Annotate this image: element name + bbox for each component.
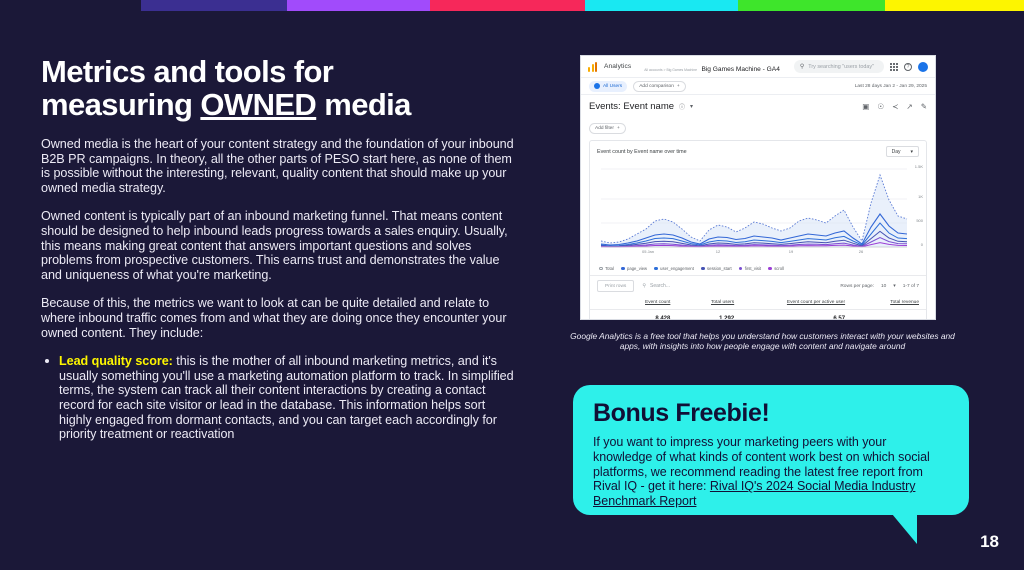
color-segment-indigo [141,0,287,11]
search-icon: ⚲ [800,63,804,70]
legend-label: page_view [627,266,647,271]
legend-item-total[interactable]: Total [599,266,614,271]
rows-per-page-control: Rows per page: 10 ▾ 1-7 of 7 [840,284,919,289]
ga-search-placeholder: Try searching "users today" [808,64,874,70]
body-paragraph-3: Because of this, the metrics we want to … [41,296,521,340]
chart-plot-area: 1.5K 1K 500 0 05 Jan 12 19 26 [597,159,922,264]
plus-icon: + [617,126,620,131]
legend-label: user_engagement [660,266,694,271]
bullet-lead-label: Lead quality score: [59,354,173,368]
analytics-logo-icon [588,62,598,72]
google-analytics-screenshot: Analytics All accounts > Big Games Machi… [580,55,936,320]
x-tick-19: 19 [780,249,802,254]
ga-account-breadcrumb: All accounts > Big Games Machine [644,68,697,72]
granularity-value: Day [892,149,901,155]
page-title: Metrics and tools for measuring OWNED me… [41,55,521,121]
ga-search-input[interactable]: ⚲ Try searching "users today" [794,60,884,73]
date-range-selector[interactable]: Last 28 days Jan 2 - Jan 29, 2025 [855,84,927,89]
help-icon[interactable]: ? [904,63,912,71]
legend-item-session-start[interactable]: session_start [701,266,732,271]
cell-total-revenue: £0.00 [852,310,926,321]
column-header-total-users[interactable]: Total users [677,296,741,310]
bonus-heading: Bonus Freebie! [573,385,969,428]
slide-left-column: Metrics and tools for measuring OWNED me… [41,55,521,442]
chart-legend: Total page_view user_engagement session_… [590,264,926,275]
edit-icon[interactable]: ✎ [921,102,927,111]
cell-event-count: 8,428 100% of total [590,310,677,321]
legend-label: scroll [774,266,784,271]
list-item: Lead quality score: this is the mother o… [41,354,521,442]
chart-title: Event count by Event name over time [597,149,687,155]
chevron-down-icon[interactable]: ▾ [690,103,693,110]
chevron-down-icon: ▾ [910,149,913,155]
legend-label: session_start [707,266,732,271]
color-segment-green [738,0,885,11]
avatar[interactable] [918,62,928,72]
color-segment-cyan [585,0,738,11]
legend-dot-icon [654,267,658,271]
color-segment-pink [430,0,585,11]
legend-item-user-engagement[interactable]: user_engagement [654,266,694,271]
column-header-total-revenue[interactable]: Total revenue [852,296,926,310]
add-comparison-label: Add comparison [639,84,674,89]
y-tick-500: 500 [916,218,923,223]
cell-event-count-per-active-user: 6.57 Avg 0% [741,310,852,321]
cell-value: £0.00 [904,319,919,321]
legend-item-first-visit[interactable]: first_visit [739,266,761,271]
pagination-label: 1-7 of 7 [903,284,919,289]
y-tick-1k: 1K [918,194,923,199]
table-header-row: Event count Total users Event count per … [590,296,926,310]
cell-value: 6.57 [833,316,845,320]
search-icon: ⚲ [642,283,646,289]
info-icon[interactable]: ⓘ [679,102,685,111]
legend-label: first_visit [745,266,761,271]
print-rows-button[interactable]: Print rows [597,280,634,292]
all-users-chip[interactable]: All Users [589,81,627,92]
rows-per-page-value[interactable]: 10 [881,284,886,289]
ga-property-selector[interactable]: All accounts > Big Games Machine Big Gam… [644,58,780,76]
page-title-line2-pre: measuring [41,87,200,122]
ga-top-bar: Analytics All accounts > Big Games Machi… [581,56,935,78]
color-segment-purple [287,0,430,11]
page-number: 18 [980,532,999,552]
color-segment-dark [0,0,141,11]
table-search-placeholder: Search... [650,283,670,289]
legend-item-scroll[interactable]: scroll [768,266,784,271]
insights-icon[interactable]: ☉ [877,102,884,111]
bonus-body: If you want to impress your marketing pe… [573,428,969,509]
page-title-emphasis: OWNED [200,87,316,122]
table-row: 8,428 100% of total 1,292 100% of total … [590,310,926,321]
bonus-freebie-callout: Bonus Freebie! If you want to impress yo… [573,385,969,515]
cell-total-users: 1,292 100% of total [677,310,741,321]
chart-card: Event count by Event name over time Day … [589,140,927,320]
all-users-label: All Users [603,84,622,89]
add-comparison-chip[interactable]: Add comparison + [633,81,685,92]
page-title-line1: Metrics and tools for [41,54,333,89]
top-color-bar [0,0,1024,11]
legend-dot-icon [701,267,705,271]
legend-dot-icon [621,267,625,271]
chevron-down-icon[interactable]: ▾ [893,284,895,289]
chart-card-header: Event count by Event name over time Day … [590,141,926,159]
page-title-line2-post: media [316,87,411,122]
column-header-event-count[interactable]: Event count [590,296,677,310]
share-icon[interactable]: ≺ [892,102,898,111]
plus-icon: + [677,84,680,89]
cell-value: 1,292 [719,316,734,320]
ga-screenshot-caption: Google Analytics is a free tool that hel… [570,331,955,352]
x-tick-26: 26 [850,249,872,254]
y-tick-0: 0 [921,242,923,247]
x-tick-12: 12 [707,249,729,254]
legend-item-page-view[interactable]: page_view [621,266,647,271]
cell-value: 8,428 [655,316,670,320]
ga-report-actions: ▣ ☉ ≺ ↗ ✎ [862,102,927,111]
body-paragraph-2: Owned content is typically part of an in… [41,209,521,282]
x-tick-05jan: 05 Jan [637,249,659,254]
metrics-table: Event count Total users Event count per … [590,296,926,320]
column-header-event-count-per-active-user[interactable]: Event count per active user [741,296,852,310]
ga-filter-row: Add filter + [581,112,935,140]
ga-brand-label: Analytics [604,63,631,70]
audience-dot-icon [594,83,600,89]
rows-per-page-label: Rows per page: [840,284,874,289]
ga-segment-row: All Users Add comparison + Last 28 days … [581,78,935,95]
report-title: Events: Event name [589,101,674,112]
y-tick-1500: 1.5K [915,164,923,169]
granularity-select[interactable]: Day ▾ [886,146,919,157]
ga-property-name: Big Games Machine - GA4 [701,66,779,73]
legend-dot-icon [599,267,603,271]
add-filter-chip[interactable]: Add filter + [589,123,626,134]
trend-icon[interactable]: ↗ [906,102,912,111]
legend-dot-icon [739,267,743,271]
legend-dot-icon [768,267,772,271]
add-filter-label: Add filter [595,126,614,131]
compare-icon[interactable]: ▣ [862,102,869,111]
metrics-bullet-list: Lead quality score: this is the mother o… [41,354,521,442]
table-search-input[interactable]: ⚲ Search... [642,283,670,289]
legend-label: Total [605,266,614,271]
apps-grid-icon[interactable] [890,63,898,71]
color-segment-yellow [885,0,1024,11]
table-toolbar: Print rows ⚲ Search... Rows per page: 10… [590,275,926,296]
body-paragraph-1: Owned media is the heart of your content… [41,137,521,195]
event-count-line-chart [597,159,929,259]
ga-report-title-row: Events: Event name ⓘ ▾ ▣ ☉ ≺ ↗ ✎ [581,95,935,112]
